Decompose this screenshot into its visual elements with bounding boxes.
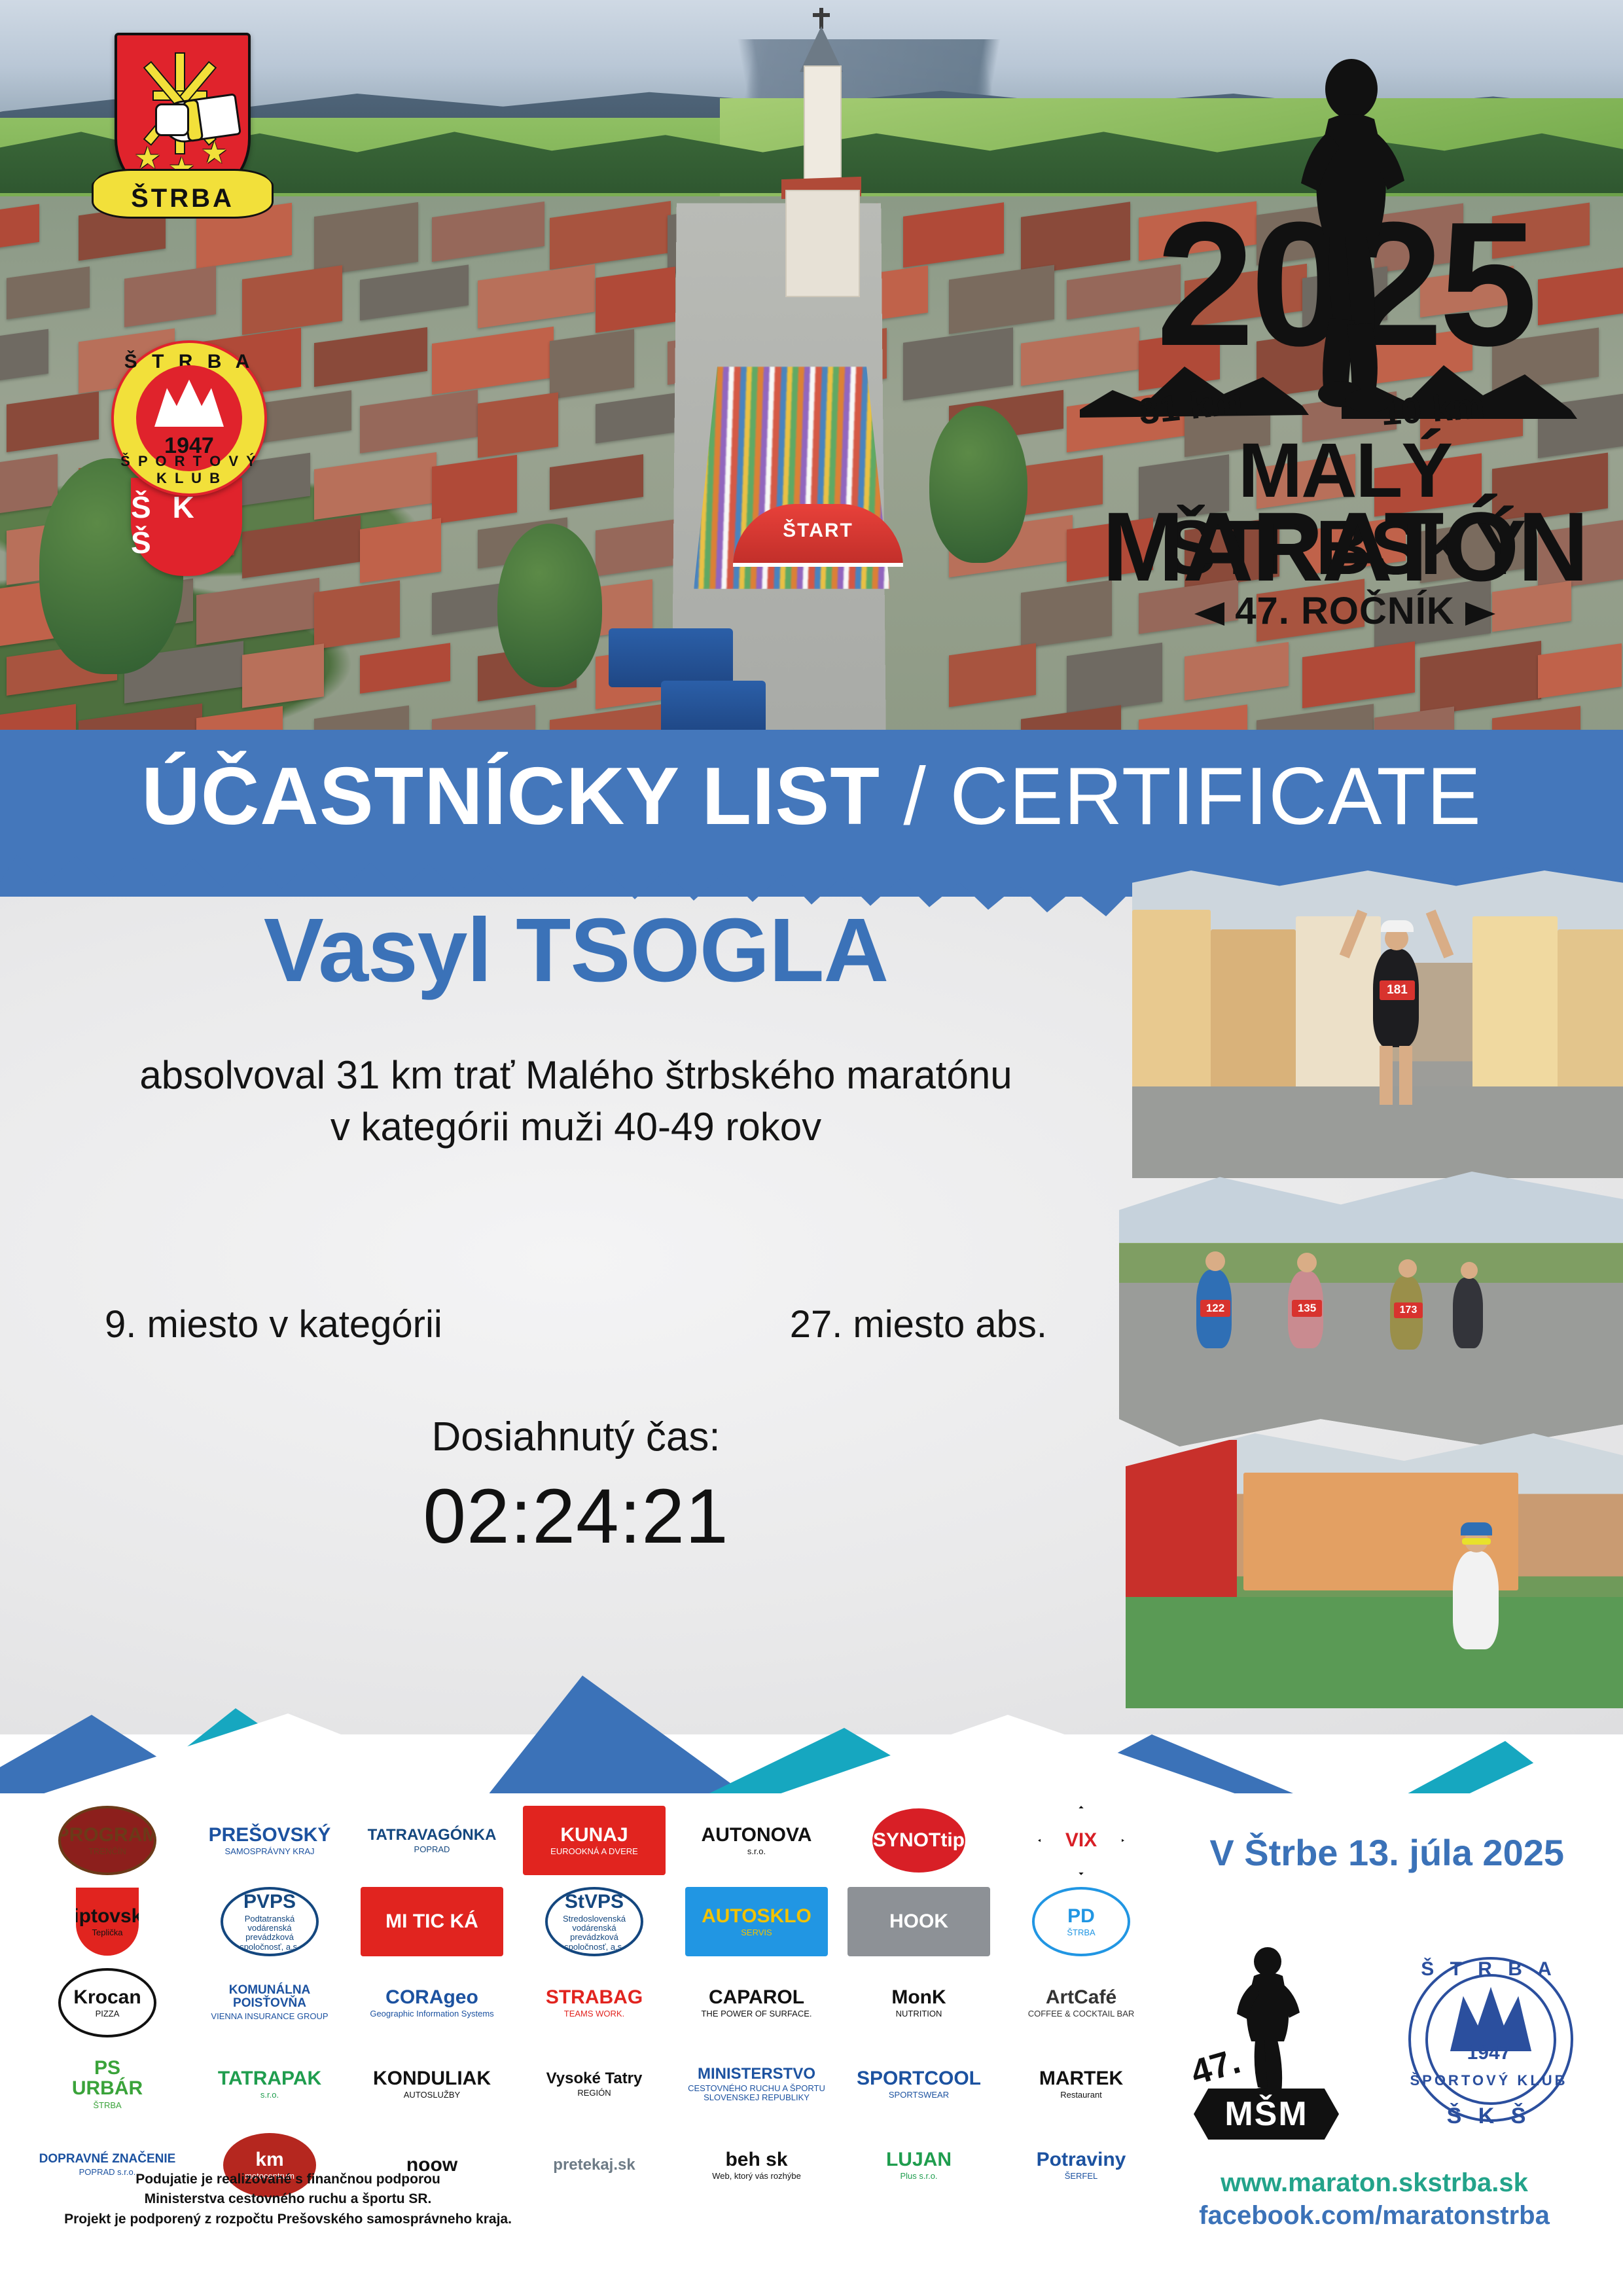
sponsor-tagline: ŠTRBA: [93, 2101, 121, 2110]
sponsor-footer: V Štrbe 13. júla 2025 PROGRAMTRENČÍNPREŠ…: [0, 1793, 1623, 2296]
roof: [550, 454, 643, 510]
roof: [242, 515, 361, 578]
sponsor-name: PVPS: [243, 1892, 296, 1912]
sponsor-name: KOMUNÁLNA POISŤOVŇA: [200, 1984, 340, 2010]
sponsor-name: PD: [1067, 1906, 1095, 1927]
house: [1132, 910, 1211, 1106]
sponsor-tagline: s.r.o.: [260, 2090, 279, 2100]
sponsor-name: MINISTERSTVO: [698, 2066, 815, 2082]
sponsor-tagline: SAMOSPRÁVNY KRAJ: [224, 1847, 314, 1856]
sponsor-name: KONDULIAK: [373, 2068, 491, 2089]
sponsor-logo[interactable]: KOMUNÁLNA POISŤOVŇAVIENNA INSURANCE GROU…: [188, 1962, 351, 2043]
sponsor-logo[interactable]: PS URBÁRŠTRBA: [26, 2043, 188, 2125]
sponsor-logo[interactable]: HOOK: [838, 1881, 1000, 1962]
roof: [0, 204, 39, 253]
roof: [1067, 643, 1162, 715]
roof: [360, 518, 441, 583]
sks-club-logo: Š T R B A 1947 Š P O R T O V Ý K L U B: [111, 340, 267, 496]
roof: [903, 202, 1004, 268]
sponsor-logo[interactable]: STRABAGTEAMS WORK.: [513, 1962, 675, 2043]
roof: [432, 202, 544, 262]
roof: [903, 327, 1013, 401]
arrow-left-icon: [1194, 602, 1224, 626]
stamp-mid-label: ŠPORTOVÝ KLUB: [1394, 2072, 1584, 2089]
roof: [314, 202, 418, 276]
sponsor-tagline: CESTOVNÉHO RUCHU A ŠPORTU SLOVENSKEJ REP…: [688, 2084, 825, 2103]
sponsor-logo[interactable]: SYNOTtip: [838, 1800, 1000, 1881]
description-line-2: v kategórii muži 40-49 rokov: [85, 1101, 1067, 1153]
sponsor-logo[interactable]: KONDULIAKAUTOSLUŽBY: [351, 2043, 513, 2125]
roof: [242, 643, 324, 708]
sponsor-logo[interactable]: beh skWeb, ktorý vás rozhýbe: [675, 2125, 838, 2206]
sponsor-name: AUTONOVA: [702, 1825, 812, 1846]
sponsor-logo[interactable]: PVPSPodtatranská vodárenská prevádzková …: [188, 1881, 351, 1962]
race-bib-number: 181: [1380, 980, 1415, 1000]
runner-silhouette-icon: [1289, 59, 1414, 412]
sponsor-name: Krocan: [73, 1987, 141, 2008]
sponsor-name: LUJAN: [886, 2149, 952, 2170]
sponsor-tagline: Teplička: [92, 1928, 123, 1937]
msm-edition-badge: 47. MŠM: [1191, 1947, 1342, 2144]
sponsor-logo[interactable]: VIX: [1000, 1800, 1162, 1881]
church-nave: [785, 190, 860, 297]
certificate-text-block: Vasyl TSOGLA absolvoval 31 km trať Maléh…: [0, 903, 1152, 1209]
contact-urls: www.maraton.skstrba.sk facebook.com/mara…: [1152, 2166, 1597, 2232]
sponsor-logo[interactable]: CORAgeoGeographic Information Systems: [351, 1962, 513, 2043]
strba-label: ŠTRBA: [131, 175, 234, 213]
runner-leg-right: [1399, 1046, 1412, 1105]
roof: [242, 265, 342, 335]
sponsor-logo[interactable]: KUNAJEUROOKNÁ A DVERE: [513, 1800, 675, 1881]
runner-arm-right: [1426, 910, 1454, 959]
stamp-year-label: 1947: [1394, 2042, 1584, 2064]
sponsor-logo[interactable]: CAPAROLTHE POWER OF SURFACE.: [675, 1962, 838, 2043]
roof: [1420, 641, 1541, 716]
sponsor-tagline: Podtatranská vodárenská prevádzková spol…: [224, 1914, 315, 1952]
sponsor-name: VIX: [1065, 1830, 1097, 1851]
roof: [432, 327, 554, 395]
sponsor-name: SYNOTtip: [873, 1830, 965, 1851]
date-place-label: V Štrbe 13. júla 2025: [1209, 1831, 1564, 1874]
event-logo: 2025: [1073, 39, 1616, 615]
blue-tent: [661, 681, 766, 733]
runner-sunglasses: [1462, 1538, 1491, 1545]
sponsor-tagline: Stredoslovenská vodárenská prevádzková s…: [549, 1914, 639, 1952]
roof: [949, 643, 1036, 708]
sponsor-name: PREŠOVSKÝ: [209, 1825, 331, 1846]
roof: [550, 329, 634, 399]
roof: [949, 265, 1054, 334]
grass-strip: [1119, 1244, 1623, 1283]
roof: [124, 266, 216, 327]
event-edition-row: 47. ROČNÍK: [1073, 589, 1616, 633]
roof: [314, 327, 427, 387]
roof: [1302, 641, 1415, 708]
sponsor-logo[interactable]: TATRAVAGÓNKAPOPRAD: [351, 1800, 513, 1881]
runner-silhouette-icon: [1232, 1947, 1304, 2104]
sponsor-name: beh sk: [725, 2149, 787, 2170]
finish-time-block: Dosiahnutý čas: 02:24:21: [0, 1414, 1152, 1561]
roof: [478, 264, 595, 328]
sponsor-name: KUNAJ: [560, 1825, 628, 1846]
roof: [550, 201, 671, 270]
road-surface: [1119, 1283, 1623, 1446]
sponsor-name: km: [255, 2149, 283, 2170]
sponsor-name: MI TIC KÁ: [385, 1911, 478, 1932]
banner-title-sk: ÚČASTNÍCKY LIST: [141, 751, 880, 842]
sponsor-tagline: AUTOSLUŽBY: [404, 2090, 460, 2100]
participant-name: Vasyl TSOGLA: [0, 903, 1152, 998]
roof: [432, 455, 517, 524]
runner-head: [1205, 1251, 1225, 1271]
red-barrier: [1126, 1440, 1237, 1623]
time-value: 02:24:21: [0, 1472, 1152, 1561]
runner-leg-left: [1380, 1046, 1393, 1105]
church: [785, 26, 857, 301]
sponsor-logo[interactable]: MINISTERSTVOCESTOVNÉHO RUCHU A ŠPORTU SL…: [675, 2043, 838, 2125]
sponsor-logo[interactable]: pretekaj.sk: [513, 2125, 675, 2206]
sponsor-tagline: PIZZA: [96, 2009, 120, 2018]
sponsor-name: pretekaj.sk: [553, 2157, 635, 2173]
sponsor-name: STRABAG: [546, 1987, 643, 2008]
sponsor-name: SPORTCOOL: [857, 2068, 981, 2089]
sponsor-tagline: TRENČÍN: [88, 1847, 126, 1856]
sponsor-name: MARTEK: [1039, 2068, 1123, 2089]
sponsor-name: PS URBÁR: [60, 2058, 155, 2099]
sponsor-tagline: SPORTSWEAR: [889, 2090, 949, 2100]
race-bib-number: 173: [1394, 1302, 1423, 1318]
roof: [196, 578, 319, 645]
banner-title: ÚČASTNÍCKY LIST / CERTIFICATE: [0, 756, 1623, 837]
hero-photo-strba-village: ŠTART ★ ★ ★ ŠTRBA: [0, 0, 1623, 746]
sponsor-logo[interactable]: LiptovskáTeplička: [26, 1881, 188, 1962]
roof: [0, 329, 48, 386]
sponsor-logo[interactable]: StVPSStredoslovenská vodárenská prevádzk…: [513, 1881, 675, 1962]
sponsor-logo[interactable]: MI TIC KÁ: [351, 1881, 513, 1962]
sponsor-name: PROGRAM: [58, 1825, 156, 1846]
conifer-tree: [929, 406, 1027, 563]
house: [1296, 916, 1381, 1106]
sponsor-tagline: Restaurant: [1060, 2090, 1102, 2100]
sponsor-name: Potraviny: [1037, 2149, 1126, 2170]
sponsor-tagline: REGIÓN: [577, 2089, 611, 2098]
strba-name-ribbon: ŠTRBA: [92, 169, 274, 219]
runner-cap: [1381, 920, 1414, 932]
sponsor-tagline: Web, ktorý vás rozhýbe: [712, 2172, 801, 2181]
roof: [0, 454, 58, 519]
place-in-category: 9. miesto v kategórii: [105, 1302, 442, 1346]
club-stamp: Š T R B A 1947 ŠPORTOVÝ KLUB Š K Š: [1394, 1944, 1584, 2140]
sponsor-logo[interactable]: KrocanPIZZA: [26, 1962, 188, 2043]
sponsor-name: StVPS: [565, 1892, 624, 1912]
sponsor-logo[interactable]: PotravinyŠERFEL: [1000, 2125, 1162, 2206]
photo-collage: 181 122 135 173: [1113, 870, 1623, 1721]
sponsor-name: DOPRAVNÉ ZNAČENIE: [39, 2153, 176, 2166]
event-title-line2: MARATÓN: [1073, 497, 1616, 596]
fineprint-line-3: Projekt je podporený z rozpočtu Prešovsk…: [39, 2210, 537, 2229]
roof: [360, 264, 469, 320]
mountain-peaks-icon: [154, 380, 224, 427]
sponsor-tagline: THE POWER OF SURFACE.: [701, 2009, 811, 2018]
house: [1558, 929, 1623, 1106]
sponsor-logo[interactable]: MARTEKRestaurant: [1000, 2043, 1162, 2125]
sponsor-tagline: ŠERFEL: [1065, 2172, 1098, 2181]
sponsor-logo[interactable]: AUTONOVAs.r.o.: [675, 1800, 838, 1881]
race-bib-number: 122: [1200, 1300, 1230, 1317]
roof: [596, 266, 675, 332]
race-bib-number: 135: [1292, 1300, 1322, 1317]
conifer-tree: [497, 524, 602, 687]
sponsor-name: Liptovská: [76, 1906, 139, 1927]
house: [1472, 916, 1558, 1106]
stamp-bottom-label: Š K Š: [1394, 2104, 1584, 2129]
sponsor-tagline: NUTRITION: [896, 2009, 942, 2018]
sponsor-tagline: VIENNA INSURANCE GROUP: [211, 2012, 328, 2021]
sponsor-logo-grid: PROGRAMTRENČÍNPREŠOVSKÝSAMOSPRÁVNY KRAJT…: [26, 1800, 1165, 2206]
photo-runners-on-road: 122 135 173: [1119, 1172, 1623, 1446]
sponsor-logo[interactable]: ArtCaféCOFFEE & COCKTAIL BAR: [1000, 1962, 1162, 2043]
stamp-top-label: Š T R B A: [1394, 1958, 1584, 1981]
sponsor-tagline: TEAMS WORK.: [564, 2009, 624, 2018]
sponsor-logo[interactable]: TATRAPAKs.r.o.: [188, 2043, 351, 2125]
house: [1211, 929, 1296, 1106]
sponsor-logo[interactable]: PROGRAMTRENČÍN: [26, 1800, 188, 1881]
roof: [478, 392, 558, 457]
place-absolute: 27. miesto abs.: [790, 1302, 1047, 1346]
roof: [7, 391, 99, 452]
funding-fineprint: Podujatie je realizované s finančnou pod…: [39, 2170, 537, 2229]
fineprint-line-1: Podujatie je realizované s finančnou pod…: [39, 2170, 537, 2189]
certificate-page: ŠTART ★ ★ ★ ŠTRBA: [0, 0, 1623, 2296]
sponsor-tagline: COFFEE & COCKTAIL BAR: [1028, 2009, 1135, 2018]
sponsor-name: AUTOSKLO: [702, 1906, 811, 1927]
event-edition-label: 47. ROČNÍK: [1235, 590, 1455, 632]
facebook-url[interactable]: facebook.com/maratonstrba: [1152, 2199, 1597, 2232]
roof: [314, 581, 400, 649]
runner-bandana: [1461, 1522, 1492, 1535]
photo-female-runner-finish: 181: [1132, 870, 1623, 1178]
sponsor-tagline: ŠTRBA: [1067, 1928, 1095, 1937]
runner-head: [1461, 1262, 1478, 1279]
sponsor-logo[interactable]: PDŠTRBA: [1000, 1881, 1162, 1962]
banner-separator: /: [880, 751, 950, 842]
sponsor-logo[interactable]: LUJANPlus s.r.o.: [838, 2125, 1000, 2206]
sponsor-logo[interactable]: AUTOSKLOSERVIS: [675, 1881, 838, 1962]
time-label: Dosiahnutý čas:: [0, 1414, 1152, 1460]
sponsor-tagline: POPRAD: [414, 1845, 450, 1854]
sponsor-name: CORAgeo: [385, 1987, 478, 2008]
roof: [1538, 643, 1622, 698]
roof: [360, 389, 478, 453]
sponsor-logo[interactable]: Vysoké TatryREGIÓN: [513, 2043, 675, 2125]
sponsor-name: TATRAVAGÓNKA: [368, 1827, 497, 1843]
roof: [7, 266, 90, 319]
runner-head: [1399, 1259, 1417, 1278]
website-url[interactable]: www.maraton.skstrba.sk: [1152, 2166, 1597, 2199]
sponsor-tagline: SERVIS: [741, 1928, 772, 1937]
blue-tent: [609, 628, 733, 687]
sponsor-logo[interactable]: SPORTCOOLSPORTSWEAR: [838, 2043, 1000, 2125]
sks-bottom-label: Š P O R T O V Ý K L U B: [114, 453, 264, 487]
sponsor-name: TATRAPAK: [218, 2068, 321, 2089]
heraldic-fist: [155, 103, 189, 136]
msm-abbrev-banner: MŠM: [1194, 2089, 1339, 2140]
certificate-description: absolvoval 31 km trať Malého štrbského m…: [85, 1049, 1067, 1153]
sponsor-tagline: Geographic Information Systems: [370, 2009, 493, 2018]
sponsor-tagline: EUROOKNÁ A DVERE: [550, 1847, 638, 1856]
sponsor-name: MonK: [891, 1987, 946, 2008]
description-line-1: absolvoval 31 km trať Malého štrbského m…: [85, 1049, 1067, 1101]
sponsor-tagline: Plus s.r.o.: [900, 2172, 937, 2181]
banner-title-en: CERTIFICATE: [950, 751, 1481, 842]
placement-row: 9. miesto v kategórii 27. miesto abs.: [0, 1302, 1152, 1346]
roof: [1185, 642, 1289, 700]
sponsor-logo[interactable]: MonKNUTRITION: [838, 1962, 1000, 2043]
sponsor-name: CAPAROL: [709, 1987, 804, 2008]
sponsor-name: ArtCafé: [1046, 1987, 1116, 2008]
roof: [596, 391, 685, 443]
road-surface: [1132, 1086, 1623, 1178]
sponsor-name: HOOK: [889, 1911, 948, 1932]
heraldic-star: ★: [201, 135, 228, 170]
msm-abbrev-label: MŠM: [1224, 2094, 1308, 2134]
runner-head: [1297, 1253, 1317, 1272]
runner-torso: [1453, 1551, 1499, 1649]
roof: [314, 452, 437, 520]
sponsor-logo[interactable]: PREŠOVSKÝSAMOSPRÁVNY KRAJ: [188, 1800, 351, 1881]
fineprint-line-2: Ministerstva cestovného ruchu a športu S…: [39, 2189, 537, 2209]
roof: [360, 643, 450, 693]
sponsor-name: Vysoké Tatry: [546, 2070, 643, 2087]
sponsor-tagline: s.r.o.: [747, 1847, 766, 1856]
runner-torso: [1453, 1278, 1483, 1348]
arrow-right-icon: [1465, 602, 1495, 626]
